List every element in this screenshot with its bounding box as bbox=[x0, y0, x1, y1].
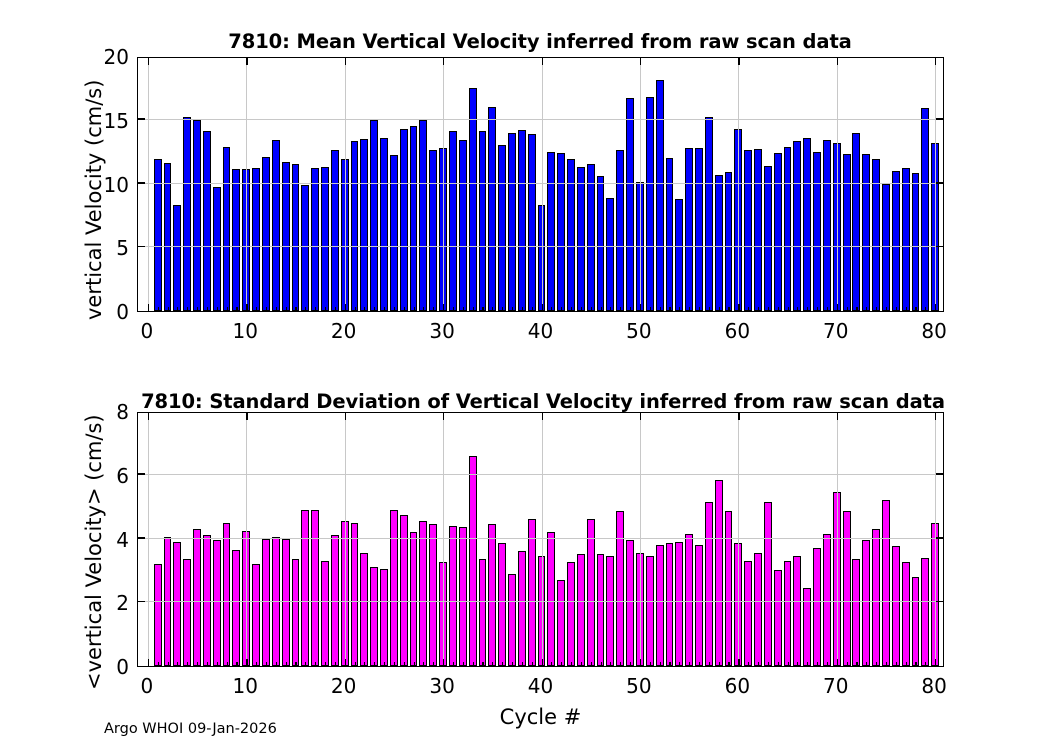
bar bbox=[547, 532, 555, 666]
bar bbox=[606, 556, 614, 666]
x-tick-mark bbox=[345, 659, 346, 666]
bar bbox=[203, 131, 211, 311]
x-tick-minor bbox=[748, 307, 749, 311]
x-tick-minor bbox=[315, 307, 316, 311]
bar bbox=[803, 138, 811, 311]
x-tick-minor bbox=[699, 307, 700, 311]
x-tick-minor bbox=[227, 662, 228, 666]
bar bbox=[449, 131, 457, 311]
x-tick-minor bbox=[177, 307, 178, 311]
x-tick-mark-top bbox=[837, 413, 838, 420]
bar bbox=[292, 559, 300, 666]
bar bbox=[557, 580, 565, 666]
gridline-vertical bbox=[738, 58, 739, 311]
bar bbox=[321, 167, 329, 311]
x-tick-minor bbox=[896, 307, 897, 311]
x-tick-mark-top bbox=[738, 58, 739, 65]
x-tick-mark-top bbox=[738, 413, 739, 420]
x-tick-minor bbox=[394, 307, 395, 311]
x-tick-minor bbox=[669, 307, 670, 311]
x-tick-minor bbox=[610, 307, 611, 311]
figure-canvas: 7810: Mean Vertical Velocity inferred fr… bbox=[0, 0, 1050, 750]
bar bbox=[154, 564, 162, 666]
x-tick-minor bbox=[463, 307, 464, 311]
gridline-vertical bbox=[837, 413, 838, 666]
x-tick-minor bbox=[236, 662, 237, 666]
bar bbox=[577, 554, 585, 666]
bar bbox=[587, 519, 595, 666]
bar bbox=[843, 511, 851, 666]
bar bbox=[252, 564, 260, 666]
gridline-vertical bbox=[443, 413, 444, 666]
x-tick-minor bbox=[689, 307, 690, 311]
footer-credit: Argo WHOI 09-Jan-2026 bbox=[104, 721, 277, 737]
x-tick-minor bbox=[601, 307, 602, 311]
bar bbox=[311, 510, 319, 666]
x-tick-mark-top bbox=[246, 413, 247, 420]
x-tick-minor bbox=[335, 662, 336, 666]
bar bbox=[459, 140, 467, 311]
x-tick-minor bbox=[473, 307, 474, 311]
x-tick-minor bbox=[650, 662, 651, 666]
gridline-vertical bbox=[148, 413, 149, 666]
x-tick-minor bbox=[355, 662, 356, 666]
x-tick-minor bbox=[374, 662, 375, 666]
x-tick-minor bbox=[827, 307, 828, 311]
bar bbox=[862, 154, 870, 311]
x-tick-minor bbox=[630, 307, 631, 311]
x-tick-label: 60 bbox=[725, 674, 750, 698]
bar bbox=[685, 534, 693, 666]
x-tick-minor bbox=[817, 307, 818, 311]
x-tick-minor bbox=[847, 662, 848, 666]
y-tick-label: 10 bbox=[85, 173, 129, 197]
bar bbox=[705, 117, 713, 311]
bar bbox=[419, 120, 427, 311]
bar bbox=[528, 519, 536, 666]
plot-area-top bbox=[137, 57, 944, 312]
bar bbox=[597, 176, 605, 311]
gridline-vertical bbox=[542, 413, 543, 666]
bar bbox=[223, 523, 231, 666]
x-tick-minor bbox=[256, 662, 257, 666]
x-tick-minor bbox=[502, 307, 503, 311]
gridline-vertical bbox=[246, 413, 247, 666]
x-tick-mark bbox=[148, 659, 149, 666]
x-tick-label: 80 bbox=[921, 674, 946, 698]
gridline-vertical bbox=[345, 413, 346, 666]
bar bbox=[232, 550, 240, 666]
bar bbox=[410, 532, 418, 666]
x-tick-minor bbox=[423, 662, 424, 666]
x-tick-minor bbox=[217, 662, 218, 666]
bar bbox=[518, 551, 526, 666]
bar bbox=[902, 168, 910, 311]
x-tick-minor bbox=[561, 307, 562, 311]
bar bbox=[793, 141, 801, 311]
bar bbox=[223, 147, 231, 311]
x-tick-minor bbox=[817, 662, 818, 666]
x-tick-minor bbox=[177, 662, 178, 666]
x-tick-minor bbox=[758, 662, 759, 666]
x-tick-label: 60 bbox=[725, 319, 750, 343]
bar bbox=[213, 187, 221, 311]
gridline-horizontal bbox=[138, 246, 943, 247]
x-tick-minor bbox=[325, 662, 326, 666]
x-tick-minor bbox=[709, 307, 710, 311]
x-tick-minor bbox=[660, 307, 661, 311]
x-tick-mark-top bbox=[542, 413, 543, 420]
x-tick-minor bbox=[807, 307, 808, 311]
x-tick-minor bbox=[266, 307, 267, 311]
bar bbox=[262, 157, 270, 311]
bar bbox=[508, 133, 516, 312]
x-tick-minor bbox=[453, 307, 454, 311]
x-tick-minor bbox=[876, 662, 877, 666]
chart-title-bottom: 7810: Standard Deviation of Vertical Vel… bbox=[63, 390, 1023, 413]
y-tick-mark bbox=[138, 246, 145, 247]
bar bbox=[626, 540, 634, 666]
x-tick-minor bbox=[778, 662, 779, 666]
x-tick-minor bbox=[286, 662, 287, 666]
y-tick-label: 20 bbox=[85, 45, 129, 69]
gridline-horizontal bbox=[138, 538, 943, 539]
x-tick-label: 30 bbox=[429, 674, 454, 698]
x-tick-mark-top bbox=[640, 58, 641, 65]
bar bbox=[852, 559, 860, 666]
bar bbox=[360, 553, 368, 666]
bar bbox=[410, 126, 418, 311]
x-tick-minor bbox=[305, 662, 306, 666]
y-tick-mark bbox=[138, 182, 145, 183]
x-tick-label: 40 bbox=[528, 674, 553, 698]
bar bbox=[892, 546, 900, 666]
y-tick-label: 4 bbox=[85, 528, 129, 552]
bar bbox=[429, 150, 437, 311]
bar bbox=[882, 500, 890, 666]
x-tick-minor bbox=[866, 662, 867, 666]
bar bbox=[774, 570, 782, 666]
bar bbox=[597, 554, 605, 666]
x-tick-minor bbox=[482, 662, 483, 666]
x-tick-mark-top bbox=[443, 413, 444, 420]
x-tick-minor bbox=[591, 662, 592, 666]
x-tick-label: 80 bbox=[921, 319, 946, 343]
x-tick-mark bbox=[640, 304, 641, 311]
bar bbox=[784, 561, 792, 666]
x-tick-minor bbox=[315, 662, 316, 666]
bar bbox=[380, 569, 388, 666]
x-tick-label: 0 bbox=[140, 674, 153, 698]
x-tick-mark-top bbox=[935, 58, 936, 65]
x-tick-minor bbox=[286, 307, 287, 311]
x-tick-label: 50 bbox=[626, 674, 651, 698]
x-tick-minor bbox=[256, 307, 257, 311]
gridline-vertical bbox=[148, 58, 149, 311]
bar bbox=[695, 148, 703, 311]
bar bbox=[370, 567, 378, 666]
y-tick-label: 0 bbox=[85, 300, 129, 324]
bar bbox=[823, 534, 831, 666]
x-tick-mark bbox=[345, 304, 346, 311]
gridline-vertical bbox=[246, 58, 247, 311]
bar bbox=[301, 510, 309, 666]
x-tick-mark bbox=[738, 659, 739, 666]
x-tick-minor bbox=[522, 307, 523, 311]
x-tick-minor bbox=[236, 307, 237, 311]
bar bbox=[606, 198, 614, 311]
bar bbox=[666, 158, 674, 311]
x-tick-minor bbox=[797, 662, 798, 666]
bar bbox=[301, 185, 309, 311]
x-tick-minor bbox=[876, 307, 877, 311]
y-tick-mark-right bbox=[936, 246, 943, 247]
x-tick-minor bbox=[295, 307, 296, 311]
x-tick-minor bbox=[433, 662, 434, 666]
bar bbox=[370, 120, 378, 311]
x-tick-minor bbox=[522, 662, 523, 666]
x-tick-minor bbox=[709, 662, 710, 666]
x-tick-minor bbox=[276, 662, 277, 666]
bar bbox=[705, 502, 713, 666]
x-tick-mark bbox=[640, 659, 641, 666]
gridline-vertical bbox=[935, 58, 936, 311]
y-tick-label: 8 bbox=[85, 400, 129, 424]
x-tick-label: 20 bbox=[331, 674, 356, 698]
x-tick-minor bbox=[502, 662, 503, 666]
x-tick-minor bbox=[915, 307, 916, 311]
x-tick-minor bbox=[364, 307, 365, 311]
bar bbox=[912, 577, 920, 666]
x-tick-minor bbox=[384, 662, 385, 666]
bar bbox=[587, 164, 595, 311]
x-tick-minor bbox=[571, 307, 572, 311]
bar bbox=[744, 561, 752, 666]
x-tick-mark-top bbox=[345, 58, 346, 65]
x-tick-minor bbox=[620, 662, 621, 666]
y-tick-mark bbox=[138, 537, 145, 538]
chart-title-top: 7810: Mean Vertical Velocity inferred fr… bbox=[135, 30, 945, 53]
x-tick-minor bbox=[866, 307, 867, 311]
x-tick-minor bbox=[463, 662, 464, 666]
x-tick-minor bbox=[551, 662, 552, 666]
bar bbox=[843, 154, 851, 311]
x-tick-minor bbox=[512, 662, 513, 666]
bar bbox=[813, 152, 821, 311]
bar bbox=[232, 169, 240, 311]
bar bbox=[213, 540, 221, 666]
x-tick-minor bbox=[404, 307, 405, 311]
bar bbox=[351, 141, 359, 311]
x-tick-mark-top bbox=[542, 58, 543, 65]
x-tick-minor bbox=[827, 662, 828, 666]
x-tick-mark bbox=[443, 659, 444, 666]
bar bbox=[646, 97, 654, 311]
x-tick-minor bbox=[168, 307, 169, 311]
x-tick-minor bbox=[414, 662, 415, 666]
x-tick-minor bbox=[561, 662, 562, 666]
x-tick-minor bbox=[571, 662, 572, 666]
x-tick-label: 70 bbox=[823, 319, 848, 343]
bar bbox=[725, 511, 733, 666]
x-tick-mark bbox=[148, 304, 149, 311]
x-tick-minor bbox=[581, 307, 582, 311]
panel-stddev-vertical-velocity: 7810: Standard Deviation of Vertical Vel… bbox=[0, 370, 1050, 750]
bar bbox=[685, 148, 693, 311]
x-tick-minor bbox=[679, 662, 680, 666]
y-tick-label: 0 bbox=[85, 655, 129, 679]
x-tick-minor bbox=[482, 307, 483, 311]
bar bbox=[292, 164, 300, 311]
bar bbox=[459, 527, 467, 666]
y-tick-label: 6 bbox=[85, 464, 129, 488]
gridline-vertical bbox=[542, 58, 543, 311]
x-tick-minor bbox=[512, 307, 513, 311]
bar-series-top bbox=[138, 58, 943, 311]
x-tick-minor bbox=[187, 307, 188, 311]
bar bbox=[547, 152, 555, 311]
bar bbox=[528, 134, 536, 311]
gridline-vertical bbox=[640, 413, 641, 666]
x-tick-mark-top bbox=[246, 58, 247, 65]
y-tick-mark-right bbox=[936, 182, 943, 183]
x-tick-minor bbox=[768, 662, 769, 666]
bar bbox=[321, 561, 329, 666]
bar bbox=[892, 171, 900, 311]
x-tick-minor bbox=[925, 662, 926, 666]
bar bbox=[508, 574, 516, 666]
bar bbox=[252, 168, 260, 311]
bar bbox=[262, 539, 270, 667]
bar bbox=[626, 98, 634, 311]
x-tick-minor bbox=[610, 662, 611, 666]
bar bbox=[488, 107, 496, 311]
x-tick-minor bbox=[699, 662, 700, 666]
x-tick-minor bbox=[227, 307, 228, 311]
x-tick-minor bbox=[532, 307, 533, 311]
x-tick-mark bbox=[935, 304, 936, 311]
plot-area-bottom bbox=[137, 412, 944, 667]
x-tick-minor bbox=[325, 307, 326, 311]
gridline-horizontal bbox=[138, 474, 943, 475]
bar bbox=[872, 529, 880, 666]
bar bbox=[351, 523, 359, 666]
bar bbox=[469, 88, 477, 311]
bar bbox=[862, 540, 870, 666]
bar bbox=[764, 502, 772, 666]
bar bbox=[754, 553, 762, 666]
bar bbox=[675, 199, 683, 311]
x-tick-minor bbox=[168, 662, 169, 666]
x-tick-minor bbox=[886, 662, 887, 666]
x-tick-minor bbox=[630, 662, 631, 666]
y-tick-mark bbox=[138, 601, 145, 602]
bar bbox=[282, 162, 290, 311]
x-tick-label: 30 bbox=[429, 319, 454, 343]
y-tick-mark bbox=[138, 473, 145, 474]
x-tick-mark bbox=[246, 659, 247, 666]
bar bbox=[360, 139, 368, 311]
bar bbox=[469, 456, 477, 666]
x-tick-minor bbox=[748, 662, 749, 666]
bar bbox=[725, 172, 733, 311]
x-tick-minor bbox=[679, 307, 680, 311]
x-tick-mark-top bbox=[443, 58, 444, 65]
bar bbox=[784, 147, 792, 311]
x-tick-mark-top bbox=[837, 58, 838, 65]
bar bbox=[823, 140, 831, 311]
x-tick-minor bbox=[906, 307, 907, 311]
bar bbox=[272, 140, 280, 311]
x-tick-minor bbox=[601, 662, 602, 666]
bar bbox=[193, 120, 201, 311]
bar bbox=[882, 184, 890, 312]
bar bbox=[803, 588, 811, 666]
x-tick-mark-top bbox=[935, 413, 936, 420]
bar bbox=[921, 558, 929, 666]
y-tick-mark-right bbox=[936, 537, 943, 538]
x-tick-minor bbox=[650, 307, 651, 311]
x-tick-label: 40 bbox=[528, 319, 553, 343]
x-tick-minor bbox=[384, 307, 385, 311]
x-tick-label: 70 bbox=[823, 674, 848, 698]
x-tick-minor bbox=[847, 307, 848, 311]
bar bbox=[173, 542, 181, 666]
x-tick-minor bbox=[896, 662, 897, 666]
bar bbox=[164, 163, 172, 311]
bar bbox=[173, 205, 181, 311]
x-tick-mark-top bbox=[345, 413, 346, 420]
bar bbox=[616, 511, 624, 666]
bar bbox=[449, 526, 457, 666]
bar bbox=[921, 108, 929, 311]
bar bbox=[498, 543, 506, 666]
x-tick-minor bbox=[669, 662, 670, 666]
bar bbox=[902, 562, 910, 666]
x-tick-minor bbox=[374, 307, 375, 311]
x-tick-minor bbox=[581, 662, 582, 666]
x-tick-minor bbox=[473, 662, 474, 666]
bar bbox=[390, 155, 398, 311]
x-tick-mark bbox=[837, 659, 838, 666]
x-tick-label: 50 bbox=[626, 319, 651, 343]
bar bbox=[666, 543, 674, 666]
x-tick-minor bbox=[660, 662, 661, 666]
x-tick-mark bbox=[443, 304, 444, 311]
x-tick-minor bbox=[856, 307, 857, 311]
bar bbox=[429, 524, 437, 666]
x-tick-minor bbox=[207, 307, 208, 311]
bar bbox=[567, 562, 575, 666]
x-tick-label: 10 bbox=[233, 674, 258, 698]
bar bbox=[774, 153, 782, 311]
gridline-horizontal bbox=[138, 119, 943, 120]
bar bbox=[183, 117, 191, 311]
bar bbox=[715, 480, 723, 666]
y-tick-label: 5 bbox=[85, 236, 129, 260]
x-tick-minor bbox=[906, 662, 907, 666]
x-tick-minor bbox=[305, 307, 306, 311]
x-tick-minor bbox=[551, 307, 552, 311]
x-tick-mark-top bbox=[640, 413, 641, 420]
x-tick-minor bbox=[797, 307, 798, 311]
y-tick-label: 2 bbox=[85, 591, 129, 615]
x-tick-minor bbox=[217, 307, 218, 311]
gridline-vertical bbox=[443, 58, 444, 311]
x-tick-label: 0 bbox=[140, 319, 153, 343]
x-tick-minor bbox=[492, 662, 493, 666]
gridline-horizontal bbox=[138, 183, 943, 184]
